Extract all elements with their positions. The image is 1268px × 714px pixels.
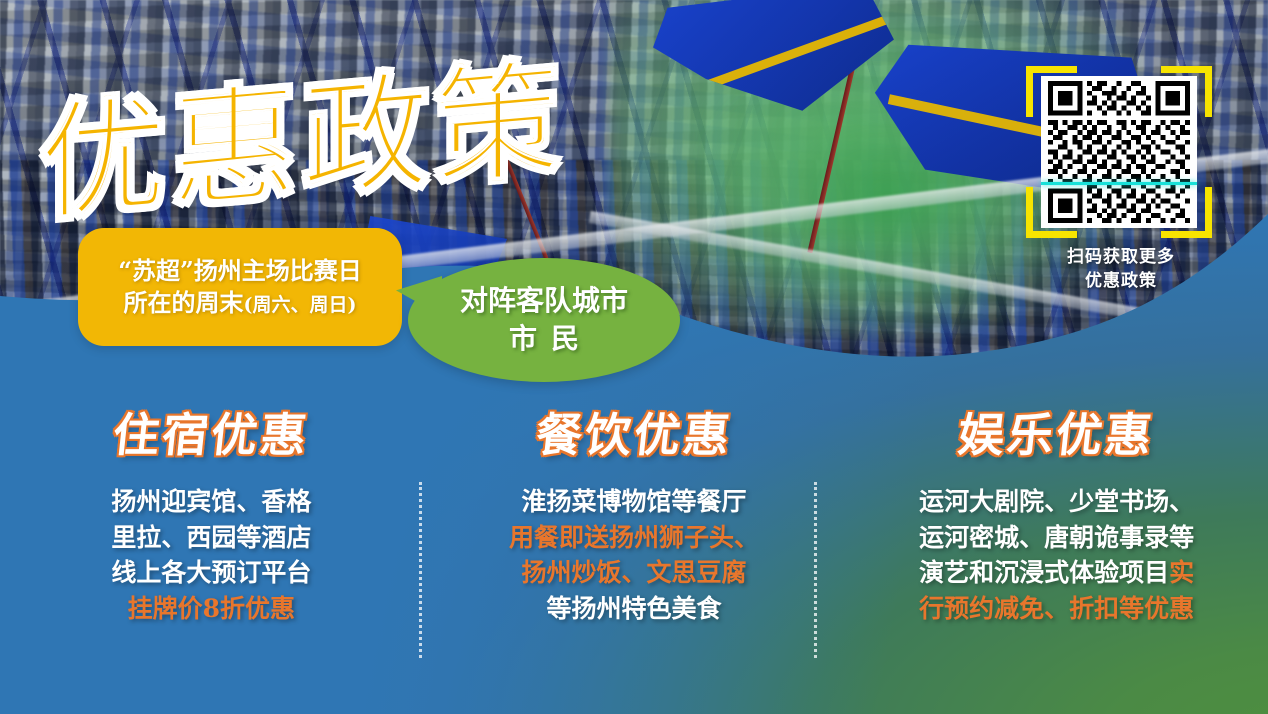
qr-block[interactable]: 扫码获取更多 优惠政策 [1026,66,1216,296]
condition-line-2-main: 所在的周末 [124,288,244,317]
benefit-line: 等扬州特色美食 [445,591,824,627]
qr-caption-line-2: 优惠政策 [1026,270,1216,294]
benefit-body-entertainment: 运河大剧院、少堂书场、 运河密城、唐朝诡事录等 演艺和沉浸式体验项目实 行预约减… [867,484,1246,626]
benefit-title-dining: 餐饮优惠 [442,412,826,458]
benefit-line-highlight: 扬州炒饭、文思豆腐 [445,555,824,591]
qr-code-icon[interactable] [1041,76,1197,228]
column-divider-2 [814,482,817,658]
benefit-line: 线上各大预订平台 [22,555,401,591]
benefit-line-mixed: 演艺和沉浸式体验项目实 [867,555,1246,591]
audience-line-2: 市民 [495,320,593,358]
benefit-line-orange-part: 实 [1169,558,1194,587]
benefit-line: 运河大剧院、少堂书场、 [867,484,1246,520]
condition-line-2: 所在的周末(周六、周日) [124,287,357,319]
qr-frame [1026,66,1212,238]
benefit-line: 扬州迎宾馆、香格 [22,484,401,520]
condition-box: “苏超”扬州主场比赛日 所在的周末(周六、周日) [78,228,402,346]
benefit-line: 运河密城、唐朝诡事录等 [867,520,1246,556]
condition-line-2-suffix: (周六、周日) [244,294,357,316]
benefit-line: 淮扬菜博物馆等餐厅 [445,484,824,520]
audience-line-1: 对阵客队城市 [460,282,628,320]
benefit-body-dining: 淮扬菜博物馆等餐厅 用餐即送扬州狮子头、 扬州炒饭、文思豆腐 等扬州特色美食 [445,484,824,626]
benefit-title-accommodation: 住宿优惠 [20,412,404,458]
benefit-line-highlight: 挂牌价8折优惠 [22,591,401,627]
benefit-column-accommodation: 住宿优惠 扬州迎宾馆、香格 里拉、西园等酒店 线上各大预订平台 挂牌价8折优惠 [0,398,423,684]
qr-caption-line-1: 扫码获取更多 [1026,246,1216,270]
benefit-column-dining: 餐饮优惠 淮扬菜博物馆等餐厅 用餐即送扬州狮子头、 扬州炒饭、文思豆腐 等扬州特… [423,398,846,684]
condition-line-1: “苏超”扬州主场比赛日 [118,255,362,287]
benefit-columns: 住宿优惠 扬州迎宾馆、香格 里拉、西园等酒店 线上各大预订平台 挂牌价8折优惠 … [0,398,1268,684]
benefit-title-entertainment: 娱乐优惠 [865,412,1249,458]
benefit-line-white-part: 演艺和沉浸式体验项目 [919,558,1169,587]
benefit-column-entertainment: 娱乐优惠 运河大剧院、少堂书场、 运河密城、唐朝诡事录等 演艺和沉浸式体验项目实… [845,398,1268,684]
column-divider-1 [419,482,422,658]
benefit-body-accommodation: 扬州迎宾馆、香格 里拉、西园等酒店 线上各大预订平台 挂牌价8折优惠 [22,484,401,626]
audience-badge: 对阵客队城市 市民 [408,258,680,382]
benefit-line: 里拉、西园等酒店 [22,520,401,556]
promo-poster: 优惠政策 “苏超”扬州主场比赛日 所在的周末(周六、周日) 对阵客队城市 市民 [0,0,1268,714]
benefit-line-highlight: 行预约减免、折扣等优惠 [867,591,1246,627]
qr-caption: 扫码获取更多 优惠政策 [1026,246,1216,294]
qr-scanline-icon [1041,182,1197,185]
benefit-line-highlight: 用餐即送扬州狮子头、 [445,520,824,556]
